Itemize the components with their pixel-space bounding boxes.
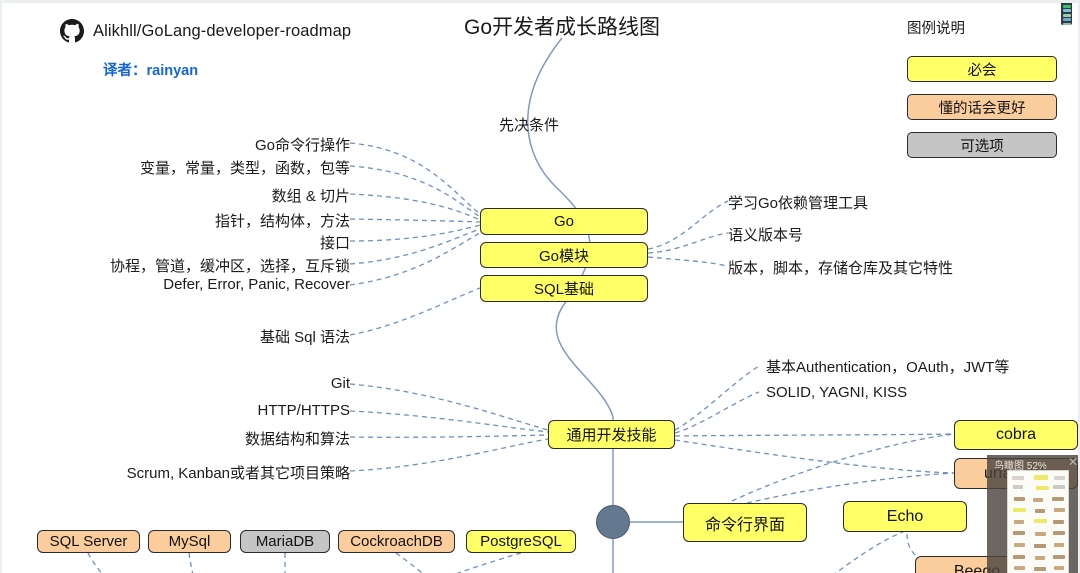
node-sql-basics[interactable]: SQL基础 bbox=[480, 275, 648, 302]
corner-indicator-widget[interactable] bbox=[1061, 3, 1072, 25]
leaf-http-https: HTTP/HTTPS bbox=[258, 402, 351, 419]
node-cockroachdb[interactable]: CockroachDB bbox=[338, 530, 455, 553]
leaf-solid-yagni-kiss: SOLID, YAGNI, KISS bbox=[766, 384, 907, 401]
leaf-variables: 变量，常量，类型，函数，包等 bbox=[140, 157, 350, 178]
leaf-pointers-structs: 指针，结构体，方法 bbox=[215, 210, 350, 231]
legend-item-optional: 可选项 bbox=[907, 132, 1057, 158]
node-junction-circle[interactable] bbox=[596, 505, 630, 539]
node-general-dev-skills[interactable]: 通用开发技能 bbox=[548, 420, 675, 449]
legend-title: 图例说明 bbox=[907, 17, 965, 38]
close-icon[interactable]: ✕ bbox=[1068, 456, 1078, 468]
edge-label-prerequisite: 先决条件 bbox=[499, 114, 559, 135]
page-title: Go开发者成长路线图 bbox=[464, 11, 660, 41]
minimap-thumbnail[interactable] bbox=[1007, 470, 1069, 573]
node-go[interactable]: Go bbox=[480, 208, 648, 235]
leaf-defer-error: Defer, Error, Panic, Recover bbox=[163, 276, 350, 293]
leaf-versions-scripts: 版本，脚本，存储仓库及其它特性 bbox=[728, 257, 953, 278]
roadmap-canvas[interactable]: Alikhll/GoLang-developer-roadmap 译者：rain… bbox=[0, 0, 1080, 573]
leaf-basic-sql: 基础 Sql 语法 bbox=[260, 326, 350, 347]
legend-item-must: 必会 bbox=[907, 56, 1057, 82]
node-go-modules[interactable]: Go模块 bbox=[480, 242, 648, 268]
leaf-authentication: 基本Authentication，OAuth，JWT等 bbox=[766, 356, 1009, 377]
leaf-data-structures: 数据结构和算法 bbox=[245, 428, 350, 449]
node-echo[interactable]: Echo bbox=[843, 501, 967, 532]
node-sql-server[interactable]: SQL Server bbox=[37, 530, 140, 553]
leaf-semver: 语义版本号 bbox=[728, 224, 803, 245]
node-cli[interactable]: 命令行界面 bbox=[683, 503, 807, 542]
leaf-dep-mgmt: 学习Go依赖管理工具 bbox=[728, 192, 868, 213]
leaf-go-cli: Go命令行操作 bbox=[255, 134, 350, 155]
translator-label: 译者：rainyan bbox=[103, 59, 198, 80]
leaf-scrum-kanban: Scrum, Kanban或者其它项目策略 bbox=[127, 462, 350, 483]
leaf-arrays-slices: 数组 & 切片 bbox=[272, 185, 350, 206]
node-postgresql[interactable]: PostgreSQL bbox=[466, 530, 576, 553]
repo-link[interactable]: Alikhll/GoLang-developer-roadmap bbox=[60, 19, 351, 43]
leaf-interfaces: 接口 bbox=[320, 232, 350, 253]
node-mysql[interactable]: MySql bbox=[148, 530, 231, 553]
leaf-git: Git bbox=[331, 375, 350, 392]
legend-item-nice-to-have: 懂的话会更好 bbox=[907, 94, 1057, 120]
github-icon bbox=[60, 19, 84, 43]
node-cobra[interactable]: cobra bbox=[954, 420, 1078, 450]
leaf-goroutines: 协程，管道，缓冲区，选择，互斥锁 bbox=[110, 255, 350, 276]
repo-name-label: Alikhll/GoLang-developer-roadmap bbox=[93, 22, 351, 41]
node-mariadb[interactable]: MariaDB bbox=[240, 530, 330, 553]
minimap-panel[interactable]: 鸟瞰图 52% ✕ bbox=[987, 455, 1080, 573]
